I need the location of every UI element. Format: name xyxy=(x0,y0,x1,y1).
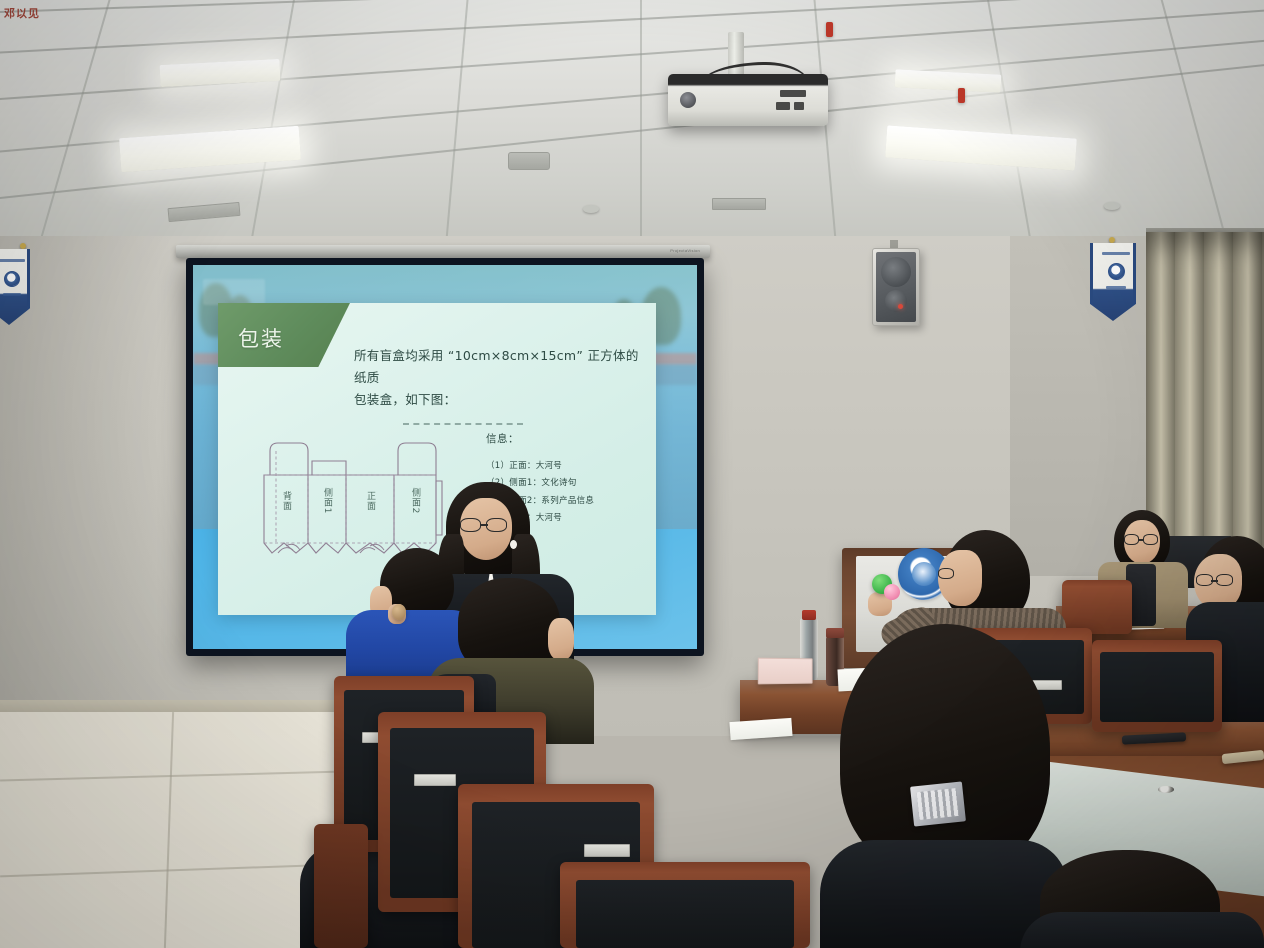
bottle-cap xyxy=(802,610,816,620)
ceiling xyxy=(0,0,1264,250)
smoke-detector-icon xyxy=(1104,202,1120,210)
hair-clip-teeth xyxy=(917,788,960,820)
roller-brand-label: ProjectaVision xyxy=(670,248,700,253)
ceiling-light-panel xyxy=(160,59,281,87)
classroom-scene: ProjectaVision 包装 所有盲盒均采用 “10cm×8cm×15cm… xyxy=(0,0,1264,948)
ceiling-vent xyxy=(712,198,766,210)
audience-foreground-right xyxy=(1040,850,1264,948)
speaker-power-led xyxy=(898,304,903,309)
ceiling-hanger xyxy=(958,88,965,103)
chair[interactable] xyxy=(1062,580,1132,634)
net-label-back: 背面 xyxy=(281,490,292,511)
dashed-fold-line xyxy=(403,423,523,425)
pennant-hook xyxy=(1109,237,1115,243)
projector-lens xyxy=(680,92,696,108)
speaker-grille xyxy=(876,252,916,322)
slide-body-line-2: 包装盒，如下图： xyxy=(354,389,644,411)
ceiling-light-panel xyxy=(119,126,301,172)
ceiling-hanger xyxy=(826,22,833,37)
info-item: （1）正面：大河号 xyxy=(486,458,646,475)
name-placard-text: 邓以见 xyxy=(4,5,40,21)
ceiling-vent xyxy=(168,202,241,222)
net-label-side2: 侧面2 xyxy=(410,487,421,515)
slide-title: 包装 xyxy=(238,323,284,353)
net-label-side1: 侧面1 xyxy=(322,487,333,515)
net-label-front: 正面 xyxy=(365,491,376,511)
pennant-hook xyxy=(20,243,26,249)
projection-screen-roller: ProjectaVision xyxy=(176,245,710,258)
chair-asset-tag xyxy=(414,774,456,786)
ceiling-light-panel xyxy=(895,69,1002,93)
chair[interactable] xyxy=(560,862,810,948)
smoke-detector-icon xyxy=(583,205,599,213)
ceiling-vent xyxy=(508,152,550,170)
chair[interactable] xyxy=(314,824,368,948)
slide-body-line-1: 所有盲盒均采用 “10cm×8cm×15cm” 正方体的纸质 xyxy=(354,345,644,389)
chair[interactable] xyxy=(1092,640,1222,732)
ceiling-light-panel xyxy=(885,125,1077,170)
slide-body-text: 所有盲盒均采用 “10cm×8cm×15cm” 正方体的纸质 包装盒，如下图： xyxy=(354,345,644,411)
info-heading: 信息： xyxy=(486,431,646,446)
screen-watermark xyxy=(203,279,265,305)
chair-asset-tag xyxy=(584,844,630,857)
pink-stress-ball[interactable] xyxy=(884,584,900,600)
documents[interactable] xyxy=(729,718,792,740)
table-cable-grommet xyxy=(1158,786,1174,793)
held-object[interactable] xyxy=(392,604,406,620)
name-placard xyxy=(758,658,813,685)
